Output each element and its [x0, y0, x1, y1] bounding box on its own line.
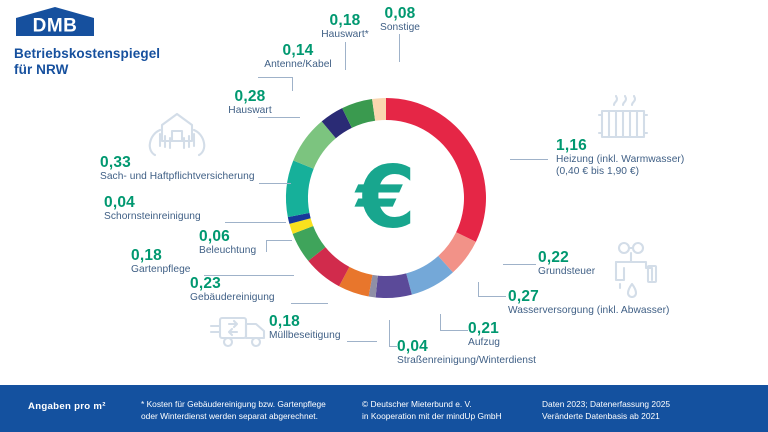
leader-versicherung — [259, 183, 291, 184]
value-sonstige: 0,08 — [371, 5, 429, 22]
faucet-icon — [606, 240, 662, 298]
leader-sonstige — [399, 34, 400, 62]
leader-muell — [347, 341, 377, 342]
dmb-logo-text: DMB — [33, 16, 78, 37]
leader-aufzug-h — [440, 330, 468, 331]
leader-aufzug-v — [440, 314, 441, 330]
radiator-icon — [594, 95, 652, 147]
label-gebaeudereinigung: 0,23 Gebäudereinigung — [190, 275, 275, 304]
leader-antenne-h — [258, 77, 292, 78]
name-wasserversorgung: Wasserversorgung (inkl. Abwasser) — [508, 305, 670, 317]
brand-title: Betriebskostenspiegel für NRW — [14, 46, 194, 78]
hands-holding-house-icon — [146, 108, 208, 160]
leader-grundsteuer — [503, 264, 536, 265]
footer-data: Daten 2023; Datenerfassung 2025 Veränder… — [542, 399, 670, 422]
footer-credit-line1: © Deutscher Mieterbund e. V. — [362, 399, 502, 411]
leader-strassen-v — [389, 320, 390, 346]
footer-credit: © Deutscher Mieterbund e. V. in Kooperat… — [362, 399, 502, 422]
value-muellbeseitigung: 0,18 — [269, 313, 341, 330]
footer-title: Angaben pro m² — [28, 401, 106, 412]
value-aufzug: 0,21 — [468, 320, 500, 337]
garbage-truck-icon — [208, 312, 270, 350]
footer-note-line1: * Kosten für Gebäudereinigung bzw. Garte… — [141, 399, 326, 411]
leader-beleuchtung-h — [266, 240, 292, 241]
leader-heizung — [510, 159, 548, 160]
leader-wasser-v — [478, 282, 479, 296]
note-heizung: (0,40 € bis 1,90 €) — [556, 166, 684, 178]
brand-logo: DMB Betriebskostenspiegel für NRW — [14, 6, 194, 78]
value-gebaeudereinigung: 0,23 — [190, 275, 275, 292]
footer-note: * Kosten für Gebäudereinigung bzw. Garte… — [141, 399, 326, 422]
value-beleuchtung: 0,06 — [199, 228, 256, 245]
brand-title-line1: Betriebskostenspiegel — [14, 46, 194, 62]
name-hauswart: Hauswart — [198, 105, 302, 117]
value-strassenreinigung: 0,04 — [397, 338, 536, 355]
name-gebaeudereinigung: Gebäudereinigung — [190, 292, 275, 304]
value-gartenpflege: 0,18 — [131, 247, 191, 264]
footer-data-line2: Veränderte Datenbasis ab 2021 — [542, 411, 670, 423]
leader-schornstein — [225, 222, 286, 223]
name-schornsteinreinigung: Schornsteinreinigung — [104, 211, 201, 223]
name-gartenpflege: Gartenpflege — [131, 264, 191, 276]
dmb-logo-mark: DMB — [14, 6, 96, 38]
leader-wasser-h — [478, 296, 506, 297]
name-heizung: Heizung (inkl. Warmwasser) — [556, 154, 684, 166]
footer-credit-line2: in Kooperation mit der mindUp GmbH — [362, 411, 502, 423]
name-strassenreinigung: Straßenreinigung/Winterdienst — [397, 355, 536, 367]
label-schornsteinreinigung: 0,04 Schornsteinreinigung — [104, 194, 201, 223]
label-strassenreinigung: 0,04 Straßenreinigung/Winterdienst — [397, 338, 536, 367]
leader-strassen-h — [389, 346, 397, 347]
name-sonstige: Sonstige — [371, 22, 429, 34]
leader-beleuchtung-v — [266, 240, 267, 252]
label-beleuchtung: 0,06 Beleuchtung — [199, 228, 256, 257]
label-gartenpflege: 0,18 Gartenpflege — [131, 247, 191, 276]
euro-symbol: € — [286, 98, 486, 298]
footer-note-line2: oder Winterdienst werden separat abgerec… — [141, 411, 326, 423]
value-schornsteinreinigung: 0,04 — [104, 194, 201, 211]
label-muellbeseitigung: 0,18 Müllbeseitigung — [269, 313, 341, 342]
name-antenne-kabel: Antenne/Kabel — [248, 59, 348, 71]
brand-title-line2: für NRW — [14, 62, 194, 78]
value-hauswart: 0,28 — [198, 88, 302, 105]
footer-data-line1: Daten 2023; Datenerfassung 2025 — [542, 399, 670, 411]
label-sonstige: 0,08 Sonstige — [371, 5, 429, 34]
name-grundsteuer: Grundsteuer — [538, 266, 595, 278]
label-aufzug: 0,21 Aufzug — [468, 320, 500, 349]
label-grundsteuer: 0,22 Grundsteuer — [538, 249, 595, 278]
value-grundsteuer: 0,22 — [538, 249, 595, 266]
name-versicherung: Sach- und Haftpflichtversicherung — [100, 171, 255, 183]
name-muellbeseitigung: Müllbeseitigung — [269, 330, 341, 342]
name-beleuchtung: Beleuchtung — [199, 245, 256, 257]
footer-bar: Angaben pro m² * Kosten für Gebäudereini… — [0, 385, 768, 432]
name-aufzug: Aufzug — [468, 337, 500, 349]
label-hauswart: 0,28 Hauswart — [198, 88, 302, 117]
leader-gebaeude — [291, 303, 328, 304]
label-antenne-kabel: 0,14 Antenne/Kabel — [248, 42, 348, 71]
value-antenne-kabel: 0,14 — [248, 42, 348, 59]
